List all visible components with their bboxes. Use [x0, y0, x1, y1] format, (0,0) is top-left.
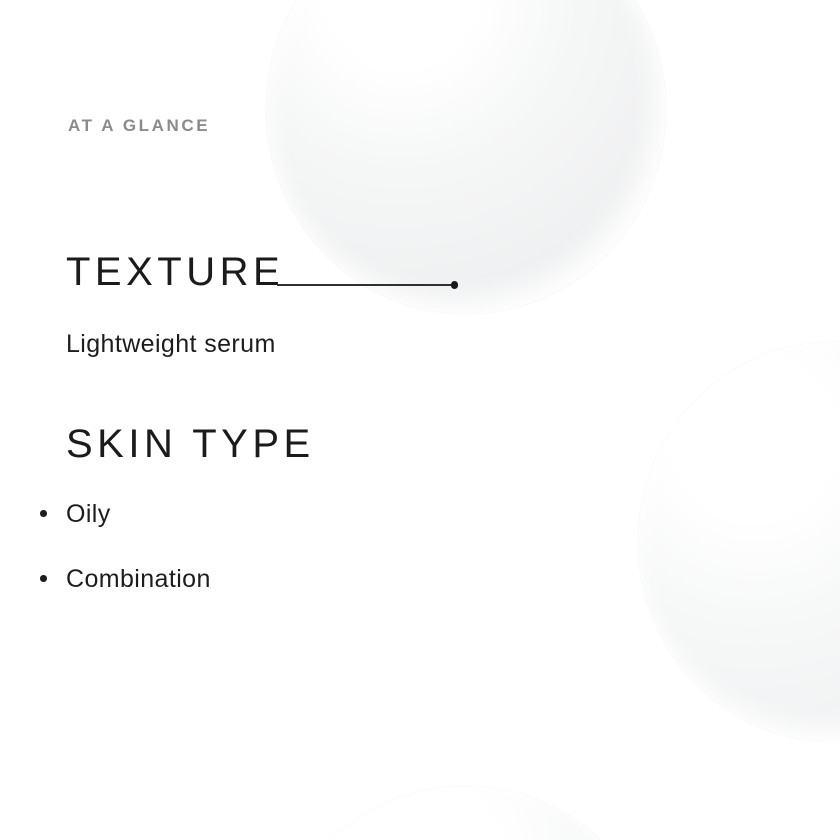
connector-line	[277, 284, 454, 286]
list-item: Oily	[0, 502, 211, 527]
eyebrow-label: AT A GLANCE	[68, 116, 210, 136]
connector-dot-icon	[451, 281, 459, 289]
list-item-label: Combination	[66, 565, 211, 593]
section-skin-type-heading: SKIN TYPE	[66, 424, 315, 464]
content-layer: AT A GLANCE TEXTURE Lightweight serum SK…	[0, 0, 840, 840]
bullet-dot-icon	[40, 575, 47, 582]
skin-type-list: Oily Combination	[0, 502, 211, 592]
list-item-label: Oily	[66, 500, 111, 528]
texture-connector	[277, 281, 458, 289]
at-a-glance-card: AT A GLANCE TEXTURE Lightweight serum SK…	[0, 0, 840, 840]
list-item: Combination	[0, 567, 211, 592]
section-texture-value: Lightweight serum	[66, 330, 276, 359]
bullet-dot-icon	[40, 510, 47, 517]
section-texture-heading: TEXTURE	[66, 252, 284, 292]
